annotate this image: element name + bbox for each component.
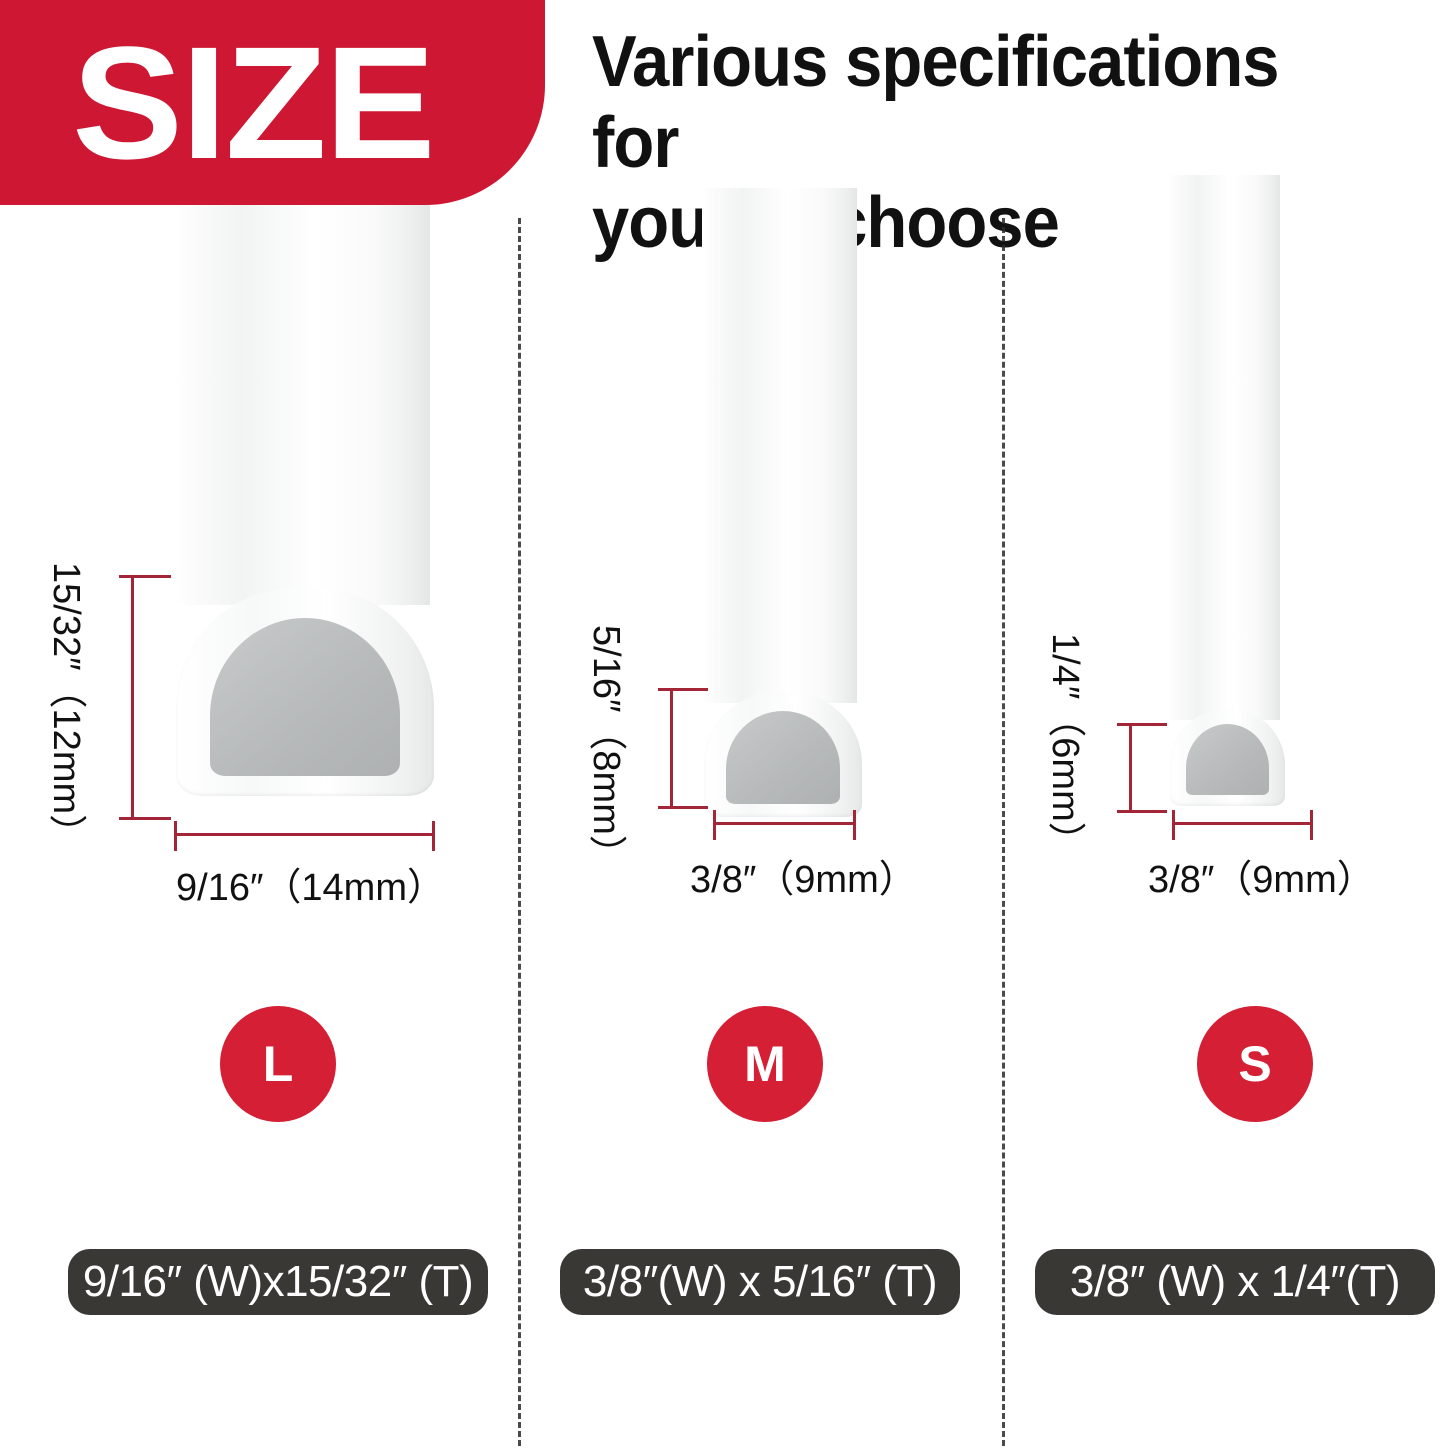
size-badge-large: L [220, 1006, 336, 1122]
dimension-cap-width-left-small [1172, 810, 1175, 840]
seal-strip-small [1168, 175, 1280, 720]
spec-pill-small: 3/8″ (W) x 1/4″(T) [1035, 1249, 1435, 1315]
dimension-label-height-large: 15/32″（12mm） [43, 562, 98, 852]
spec-pill-label-medium: 3/8″(W) x 5/16″ (T) [583, 1257, 937, 1307]
seal-strip-medium [702, 188, 857, 703]
size-banner-label: SIZE [72, 23, 434, 183]
dimension-cap-width-left-large [174, 821, 177, 851]
dimension-line-width-medium [713, 822, 856, 825]
size-badge-label-large: L [263, 1039, 294, 1089]
seal-strip-large [176, 205, 430, 605]
dimension-cap-height-top-large [119, 575, 171, 578]
seal-profile-medium [704, 692, 862, 817]
dimension-label-height-medium: 5/16″（8mm） [583, 625, 638, 873]
dimension-line-width-large [174, 833, 435, 836]
column-divider-right [1002, 218, 1005, 1446]
spec-pill-large: 9/16″ (W)x15/32″ (T) [68, 1249, 488, 1315]
dimension-cap-height-top-medium [658, 688, 708, 691]
column-divider-left [518, 218, 521, 1446]
size-badge-label-small: S [1238, 1039, 1271, 1089]
dimension-cap-height-bottom-small [1117, 810, 1167, 813]
dimension-cap-width-right-medium [853, 810, 856, 840]
dimension-cap-width-left-medium [713, 810, 716, 840]
dimension-label-height-small: 1/4″（6mm） [1042, 633, 1097, 860]
dimension-label-width-medium: 3/8″（9mm） [690, 848, 917, 903]
dimension-line-width-small [1172, 822, 1313, 825]
dimension-cap-height-top-small [1117, 723, 1167, 726]
dimension-cap-height-bottom-medium [658, 806, 708, 809]
dimension-cap-height-bottom-large [119, 817, 171, 820]
size-badge-small: S [1197, 1006, 1313, 1122]
dimension-label-width-small: 3/8″（9mm） [1148, 848, 1375, 903]
spec-pill-label-small: 3/8″ (W) x 1/4″(T) [1070, 1257, 1400, 1307]
spec-pill-label-large: 9/16″ (W)x15/32″ (T) [83, 1257, 473, 1307]
dimension-cap-width-right-small [1310, 810, 1313, 840]
size-specification-infographic: SIZE Various specifications for your to … [0, 0, 1445, 1454]
dimension-label-width-large: 9/16″（14mm） [176, 856, 445, 911]
seal-profile-large [176, 588, 434, 796]
dimension-line-height-large [131, 575, 134, 820]
size-badge-label-medium: M [744, 1039, 786, 1089]
size-banner: SIZE [0, 0, 545, 205]
size-badge-medium: M [707, 1006, 823, 1122]
dimension-line-height-small [1129, 723, 1132, 813]
headline-line-1: Various specifications for [592, 22, 1383, 183]
dimension-line-height-medium [670, 688, 673, 809]
spec-pill-medium: 3/8″(W) x 5/16″ (T) [560, 1249, 960, 1315]
dimension-cap-width-right-large [432, 821, 435, 851]
seal-profile-small [1170, 710, 1285, 806]
